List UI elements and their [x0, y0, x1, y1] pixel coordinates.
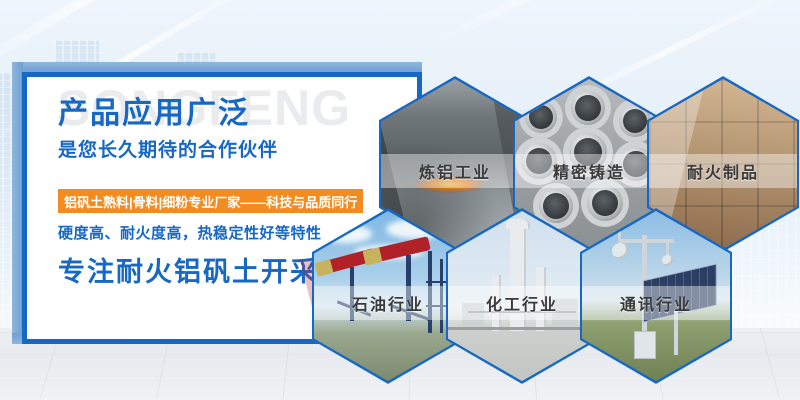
hex-label: 炼铝工业 [381, 154, 529, 188]
hex-label: 通讯行业 [582, 286, 730, 320]
banner-stage: SONGFENG 产品应用广泛 是您长久期待的合作伙伴 铝矾土熟料|骨料|细粉专… [0, 0, 800, 400]
hex-label: 耐火制品 [649, 154, 797, 188]
hex-label: 精密铸造 [515, 154, 663, 188]
hex-label: 化工行业 [448, 286, 596, 320]
hex-label: 石油行业 [314, 286, 462, 320]
hexagon-grid: 炼铝工业 精密铸造 [0, 0, 800, 400]
